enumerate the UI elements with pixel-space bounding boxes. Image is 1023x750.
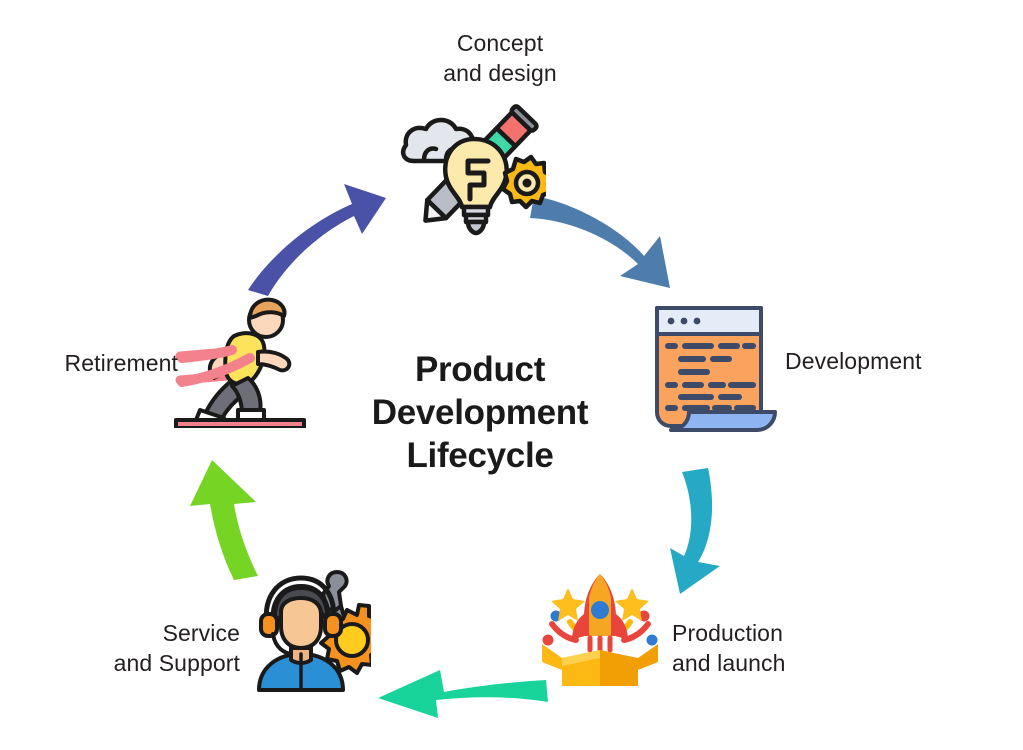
code-window-laptop-icon: [645, 300, 785, 440]
support-agent-gear-wrench-icon: [243, 568, 371, 694]
arrow-retirement-to-concept: [240, 178, 390, 298]
arrow-service-to-retirement: [176, 442, 286, 582]
product-lifecycle-diagram: Concept and design Development Productio…: [0, 0, 1023, 750]
stage-label-concept: Concept and design: [370, 28, 630, 88]
stage-label-retirement: Retirement: [10, 348, 178, 378]
stage-label-service: Service and Support: [58, 618, 240, 678]
runner-finish-line-icon: [170, 292, 310, 428]
diagram-title: Product Development Lifecycle: [330, 348, 630, 477]
lightbulb-pencil-gear-cloud-icon: [398, 103, 546, 239]
stage-label-development: Development: [785, 346, 1005, 376]
rocket-launch-box-icon: [532, 566, 668, 688]
arrow-production-to-service: [372, 662, 552, 724]
arrow-concept-to-development: [528, 170, 708, 305]
stage-label-production: Production and launch: [672, 618, 922, 678]
